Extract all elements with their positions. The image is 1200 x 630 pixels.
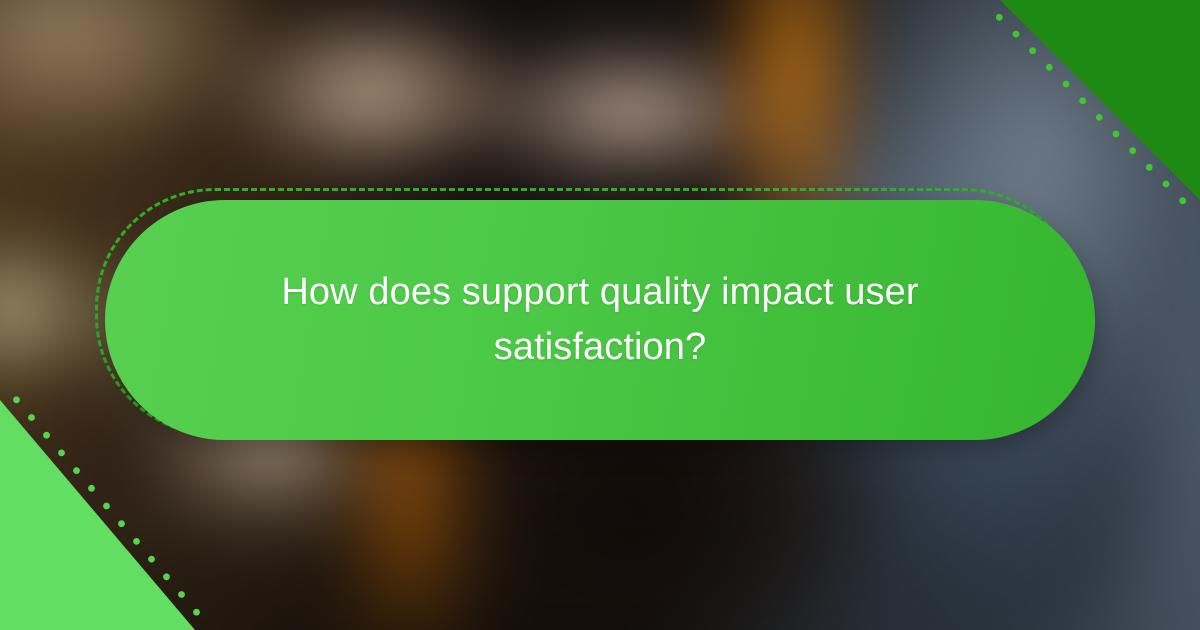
- question-card: How does support quality impact user sat…: [105, 200, 1095, 440]
- poster-canvas: How does support quality impact user sat…: [0, 0, 1200, 630]
- card-title: How does support quality impact user sat…: [225, 265, 975, 375]
